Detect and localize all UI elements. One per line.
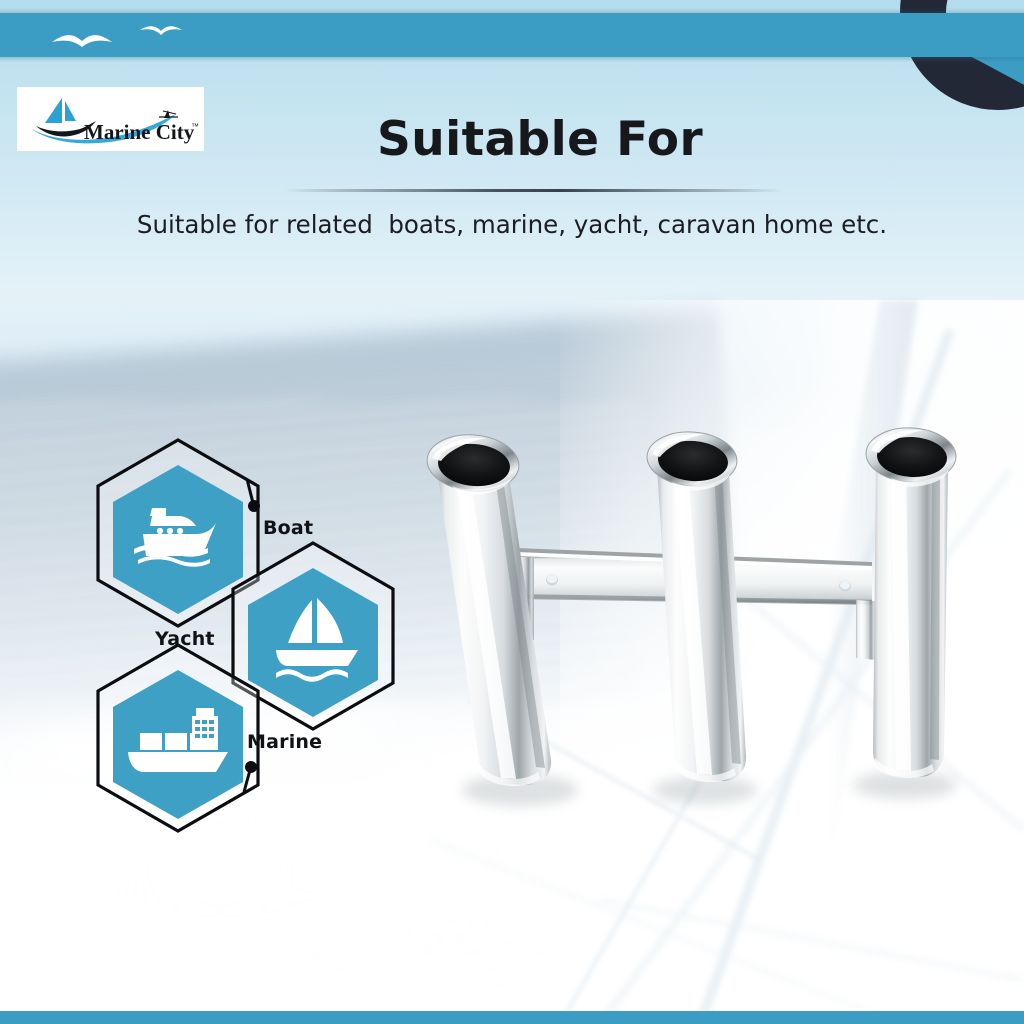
bottom-accent-bar: [0, 1011, 1024, 1024]
product-rod-holder: [0, 0, 1024, 1024]
product-infographic-image: Marine City ™ Suitable For Suitable for …: [0, 0, 1024, 1024]
tube-right: [865, 426, 958, 778]
tube-center: [645, 429, 746, 782]
